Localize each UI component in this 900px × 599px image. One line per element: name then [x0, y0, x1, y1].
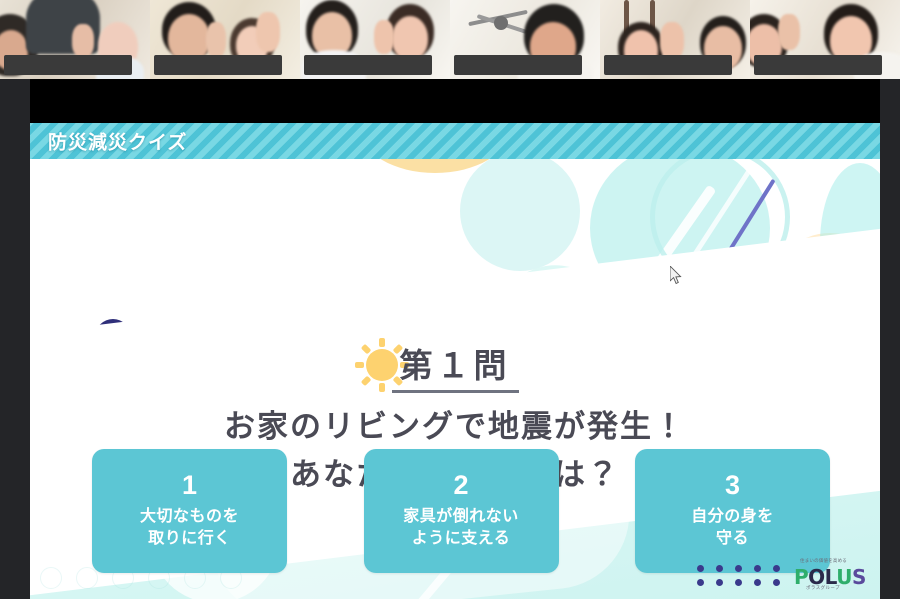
answer-label-3-line-1: 自分の身を — [691, 506, 774, 528]
answer-label-2: 家具が倒れない ように支える — [403, 506, 519, 549]
participant-name-label — [154, 55, 282, 75]
participant-name-label — [754, 55, 882, 75]
answer-label-1: 大切なものを 取りに行く — [140, 506, 239, 549]
participant-tile-5[interactable] — [600, 0, 750, 79]
answer-label-1-line-1: 大切なものを — [140, 506, 239, 528]
presentation-slide: 防災減災クイズ 第１問 お家のリビングで地震が発生！ あなたがとる行動は？ — [30, 123, 880, 599]
participant-name-label — [4, 55, 132, 75]
x-mark-icon — [666, 564, 688, 586]
participant-tile-6[interactable] — [750, 0, 900, 79]
slide-title-ribbon: 防災減災クイズ — [30, 123, 880, 159]
answer-label-3: 自分の身を 守る — [691, 506, 774, 549]
participant-tile-4[interactable] — [450, 0, 600, 79]
desktop-right-gutter — [880, 79, 900, 599]
question-number: 第１問 — [30, 339, 880, 393]
answer-number-2: 2 — [453, 472, 468, 499]
answer-label-2-line-2: ように支える — [403, 528, 519, 550]
participant-tile-1[interactable] — [0, 0, 150, 79]
answer-label-1-line-2: 取りに行く — [140, 528, 239, 550]
polus-logo-tagline: 住まいの価値を高める — [800, 558, 874, 564]
video-gallery-strip — [0, 0, 900, 79]
question-line-1: お家のリビングで地震が発生！ — [30, 403, 880, 451]
answer-card-2[interactable]: 2 家具が倒れない ように支える — [364, 449, 559, 573]
participant-tile-3[interactable] — [300, 0, 450, 79]
question-number-text: 第１問 — [392, 339, 519, 393]
slide-letterbox-top — [30, 79, 880, 123]
participant-name-label — [454, 55, 582, 75]
slide-title-text: 防災減災クイズ — [48, 128, 187, 155]
dot-strip-decor — [697, 565, 783, 586]
answer-card-1[interactable]: 1 大切なものを 取りに行く — [92, 449, 287, 573]
answer-label-2-line-1: 家具が倒れない — [403, 506, 519, 528]
participant-tile-2[interactable] — [150, 0, 300, 79]
participant-name-label — [304, 55, 432, 75]
shared-screen-stage: 防災減災クイズ 第１問 お家のリビングで地震が発生！ あなたがとる行動は？ — [0, 79, 900, 599]
slide-footer-branding: 住まいの価値を高める POLUS ポラスグループ — [666, 555, 866, 595]
screen-share-window: 防災減災クイズ 第１問 お家のリビングで地震が発生！ あなたがとる行動は？ — [0, 0, 900, 599]
polus-logo: 住まいの価値を高める POLUS ポラスグループ — [792, 558, 866, 592]
desktop-left-gutter — [0, 79, 30, 599]
participant-name-label — [604, 55, 732, 75]
answer-label-3-line-2: 守る — [691, 528, 774, 550]
polus-logo-subtext: ポラスグループ — [806, 585, 840, 591]
answer-number-3: 3 — [725, 472, 740, 499]
mouse-cursor — [670, 266, 683, 285]
answer-number-1: 1 — [182, 472, 197, 499]
